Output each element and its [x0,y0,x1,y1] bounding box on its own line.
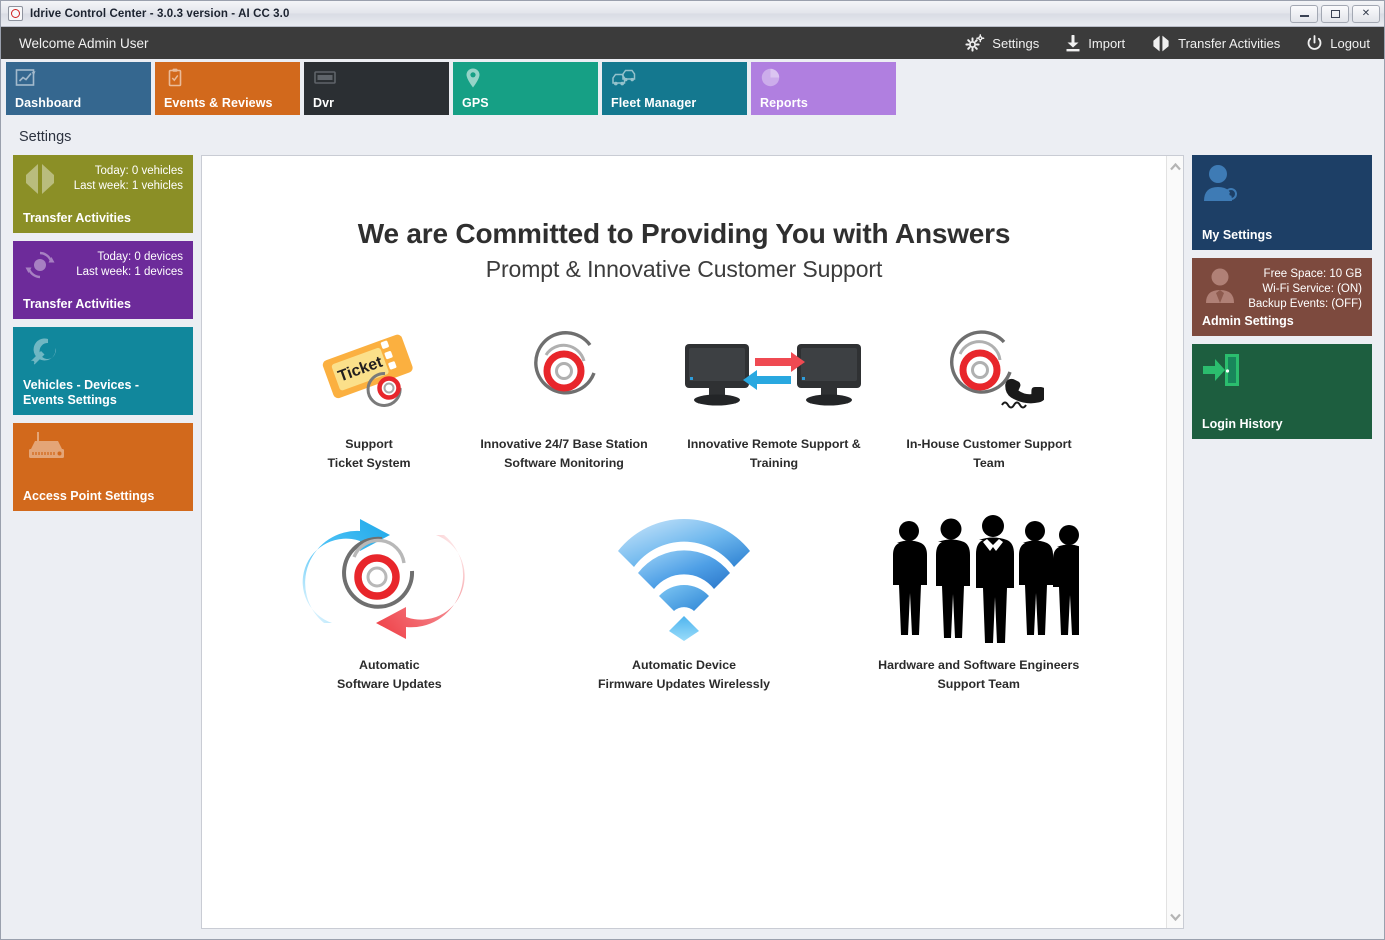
feature-base-station-monitoring: Innovative 24/7 Base Station Software Mo… [464,317,664,473]
team-silhouette-icon [879,513,1079,643]
vertical-scrollbar[interactable] [1166,156,1183,928]
feature-row-2: Automatic Software Updates [242,513,1126,694]
header-import-label: Import [1088,36,1125,51]
support-ticket-icon: Ticket [314,317,424,422]
nav-tab-fleet-manager-label: Fleet Manager [611,96,696,110]
tile-stat-line: Today: 0 vehicles [23,164,183,179]
header-logout-label: Logout [1330,36,1370,51]
tile-stats: Free Space: 10 GB Wi-Fi Service: (ON) Ba… [1202,267,1362,312]
tile-title: My Settings [1202,228,1362,243]
window-title: Idrive Control Center - 3.0.3 version - … [30,8,289,20]
tile-stat-line: Wi-Fi Service: (ON) [1202,282,1362,297]
pie-chart-icon [760,76,782,93]
feature-caption: Innovative Remote Support & Training [687,435,861,473]
feature-automatic-software-updates: Automatic Software Updates [242,513,537,694]
transfer-arrows-icon [1151,35,1171,52]
nav-tab-dvr[interactable]: Dvr [304,62,449,115]
feature-support-ticket-system: Ticket Support Ticket System [274,317,464,473]
login-door-icon [1201,352,1241,393]
feature-caption: In-House Customer Support Team [906,435,1071,473]
tile-title: Admin Settings [1202,314,1362,329]
welcome-message: Welcome Admin User [19,36,149,51]
close-button[interactable]: ✕ [1352,5,1380,23]
tile-title: Transfer Activities [23,297,183,312]
router-icon [22,431,68,472]
power-icon [1306,35,1323,52]
nav-tab-reports[interactable]: Reports [751,62,896,115]
wifi-signal-icon [604,513,764,643]
nav-tab-reports-label: Reports [760,96,808,110]
header-transfer-activities-button[interactable]: Transfer Activities [1151,35,1280,52]
title-bar: Idrive Control Center - 3.0.3 version - … [1,1,1384,27]
main-content-panel: We are Committed to Providing You with A… [201,155,1184,929]
user-settings-icon [1201,163,1243,208]
tile-login-history[interactable]: Login History [1192,344,1372,439]
feature-caption: Innovative 24/7 Base Station Software Mo… [480,435,647,473]
tile-stat-line: Last week: 1 vehicles [23,179,183,194]
wrench-icon [22,335,62,376]
target-ring-icon [520,317,608,422]
hero-subtitle: Prompt & Innovative Customer Support [202,256,1166,283]
header-bar: Welcome Admin User [1,27,1384,59]
tile-admin-settings[interactable]: Free Space: 10 GB Wi-Fi Service: (ON) Ba… [1192,258,1372,336]
gears-icon [965,34,985,52]
nav-tab-gps-label: GPS [462,96,489,110]
feature-hardware-software-engineers: Hardware and Software Engineers Support … [831,513,1126,694]
main-scroll-content: We are Committed to Providing You with A… [202,156,1166,928]
tile-stat-line: Backup Events: (OFF) [1202,297,1362,312]
nav-tab-dashboard-label: Dashboard [15,96,81,110]
header-settings-label: Settings [992,36,1039,51]
hero-section: We are Committed to Providing You with A… [202,156,1166,283]
header-settings-button[interactable]: Settings [965,34,1039,52]
feature-caption: Support Ticket System [327,435,410,473]
tile-title: Vehicles - Devices - Events Settings [23,378,183,408]
chevron-up-icon[interactable] [1167,156,1184,178]
left-tile-column: Today: 0 vehicles Last week: 1 vehicles … [13,155,193,929]
feature-row-1: Ticket Support Ticket System [242,317,1126,473]
target-phone-icon [934,317,1044,422]
tile-access-point-settings[interactable]: Access Point Settings [13,423,193,511]
tile-title: Access Point Settings [23,489,183,504]
nav-tab-gps[interactable]: GPS [453,62,598,115]
target-refresh-icon [294,513,484,643]
hero-title: We are Committed to Providing You with A… [202,218,1166,250]
body-area: Today: 0 vehicles Last week: 1 vehicles … [1,155,1384,939]
vehicles-icon [611,76,637,93]
feature-caption: Hardware and Software Engineers Support … [878,656,1079,694]
app-logo-icon [8,6,23,21]
download-icon [1065,35,1081,52]
feature-caption: Automatic Software Updates [337,656,442,694]
tile-my-settings[interactable]: My Settings [1192,155,1372,250]
minimize-button[interactable] [1290,5,1318,23]
main-nav-tabs: Dashboard Events & Reviews Dvr [1,59,1384,119]
tile-stat-line: Free Space: 10 GB [1202,267,1362,282]
tile-stats: Today: 0 devices Last week: 1 devices [23,250,183,280]
feature-grid: Ticket Support Ticket System [202,317,1166,694]
breadcrumb: Settings [19,129,71,145]
map-pin-icon [462,76,484,93]
window-controls: ✕ [1290,5,1380,23]
feature-remote-support-training: Innovative Remote Support & Training [664,317,884,473]
tile-vehicles-devices-events-settings[interactable]: Vehicles - Devices - Events Settings [13,327,193,415]
dvr-icon [313,76,337,93]
maximize-button[interactable] [1321,5,1349,23]
nav-tab-dashboard[interactable]: Dashboard [6,62,151,115]
breadcrumb-row: Settings [1,119,1384,155]
chart-line-icon [15,76,37,93]
header-transfer-label: Transfer Activities [1178,36,1280,51]
tile-stat-line: Last week: 1 devices [23,265,183,280]
application-window: Idrive Control Center - 3.0.3 version - … [0,0,1385,940]
chevron-down-icon[interactable] [1167,906,1184,928]
tile-transfer-activities-devices[interactable]: Today: 0 devices Last week: 1 devices Tr… [13,241,193,319]
header-logout-button[interactable]: Logout [1306,35,1370,52]
scrollbar-track[interactable] [1167,178,1184,906]
tile-title: Login History [1202,417,1362,432]
tile-stats: Today: 0 vehicles Last week: 1 vehicles [23,164,183,194]
nav-tab-dvr-label: Dvr [313,96,334,110]
nav-tab-events-reviews[interactable]: Events & Reviews [155,62,300,115]
tile-title: Transfer Activities [23,211,183,226]
tile-stat-line: Today: 0 devices [23,250,183,265]
nav-tab-events-reviews-label: Events & Reviews [164,96,273,110]
nav-tab-fleet-manager[interactable]: Fleet Manager [602,62,747,115]
header-import-button[interactable]: Import [1065,35,1125,52]
right-tile-column: My Settings Free Space: 10 GB Wi-Fi Serv… [1192,155,1372,929]
feature-caption: Automatic Device Firmware Updates Wirele… [598,656,770,694]
two-monitors-transfer-icon [679,317,869,422]
header-actions: Settings Import [965,34,1370,52]
tile-transfer-activities-vehicles[interactable]: Today: 0 vehicles Last week: 1 vehicles … [13,155,193,233]
feature-device-firmware-updates: Automatic Device Firmware Updates Wirele… [537,513,832,694]
clipboard-check-icon [164,76,186,93]
feature-in-house-support-team: In-House Customer Support Team [884,317,1094,473]
